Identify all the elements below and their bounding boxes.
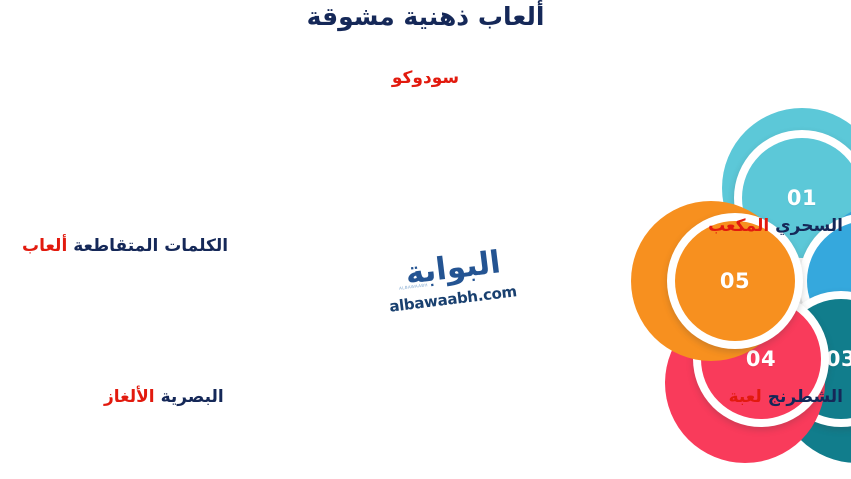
page-title: ألعاب ذهنية مشوقة (0, 2, 851, 31)
label-item-01: سودوكو (0, 68, 851, 88)
petal-diagram: 01 02 03 04 (271, 108, 621, 463)
petal-01-number: 01 (787, 186, 817, 210)
label-item-03-navy: الشطرنج (768, 387, 843, 407)
petal-03-number: 03 (826, 347, 851, 371)
label-item-05: الكلمات المتقاطعة ألعاب (22, 236, 228, 256)
label-item-05-navy: الكلمات المتقاطعة (73, 236, 228, 256)
label-item-04-red: الألغاز (104, 387, 155, 407)
label-item-01-red: سودوكو (392, 68, 459, 88)
label-item-02: السحري المكعب (708, 216, 843, 236)
infographic-canvas: ألعاب ذهنية مشوقة 01 02 03 (0, 0, 851, 479)
label-item-04-navy: البصرية (161, 387, 224, 407)
label-item-02-navy: السحري (775, 216, 843, 236)
label-item-03-red: لعبة (729, 387, 762, 407)
petal-05-number: 05 (720, 269, 750, 293)
label-item-05-red: ألعاب (22, 236, 67, 256)
label-item-04: البصرية الألغاز (104, 387, 224, 407)
label-item-02-red: المكعب (708, 216, 769, 236)
label-item-03: الشطرنج لعبة (729, 387, 843, 407)
petal-05-inner-circle[interactable]: 05 (675, 221, 795, 341)
